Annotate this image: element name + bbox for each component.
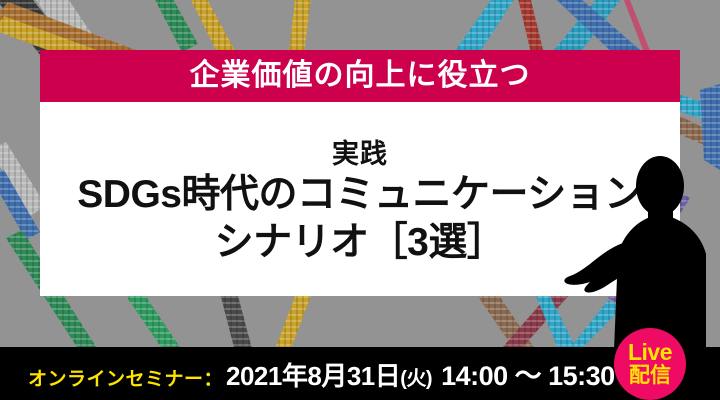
title-line-1: 実践 [332,138,388,172]
footer-bar: オンラインセミナー： 2021年8月31日 (火) 14:00 〜 15:30 [0,347,720,400]
headline-text: 企業価値の向上に役立つ [190,61,531,91]
event-weekday: (火) [400,362,432,391]
title-line-3: シナリオ［3選］ [215,219,506,267]
live-badge-label-jp: 配信 [629,365,671,387]
seminar-label: オンラインセミナー： [28,364,223,391]
event-time: 14:00 〜 15:30 [441,354,615,393]
seminar-banner: 企業価値の向上に役立つ 実践 SDGs時代のコミュニケーション シナリオ［3選］… [0,0,720,400]
headline-band: 企業価値の向上に役立つ [40,50,680,102]
event-date: 2021年8月31日 [226,356,400,393]
live-badge: Live 配信 [614,328,686,400]
footer-info: オンラインセミナー： 2021年8月31日 (火) 14:00 〜 15:30 [0,354,615,393]
presenter-silhouette-icon [556,150,720,350]
live-badge-label-en: Live [628,341,672,364]
